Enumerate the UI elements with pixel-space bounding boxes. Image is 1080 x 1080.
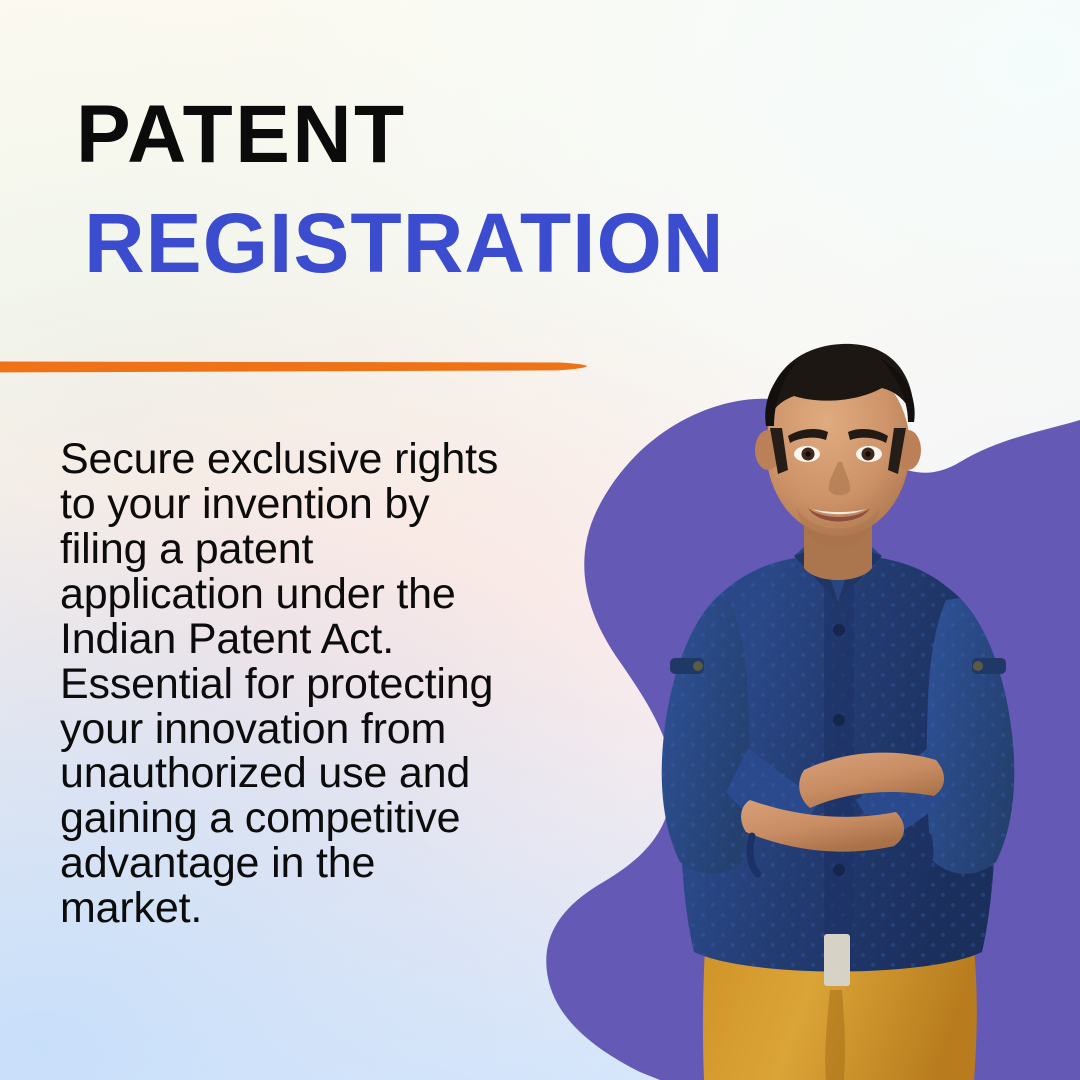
orange-divider bbox=[0, 356, 600, 378]
poster-canvas: PATENT REGISTRATION Secure exclusive rig… bbox=[0, 0, 1080, 1080]
person-photo bbox=[598, 330, 1080, 1080]
headline-block: PATENT REGISTRATION bbox=[76, 96, 725, 283]
headline-line-2: REGISTRATION bbox=[84, 203, 725, 284]
headline-line-1: PATENT bbox=[76, 96, 725, 175]
body-paragraph: Secure exclusive rights to your inventio… bbox=[60, 437, 530, 931]
